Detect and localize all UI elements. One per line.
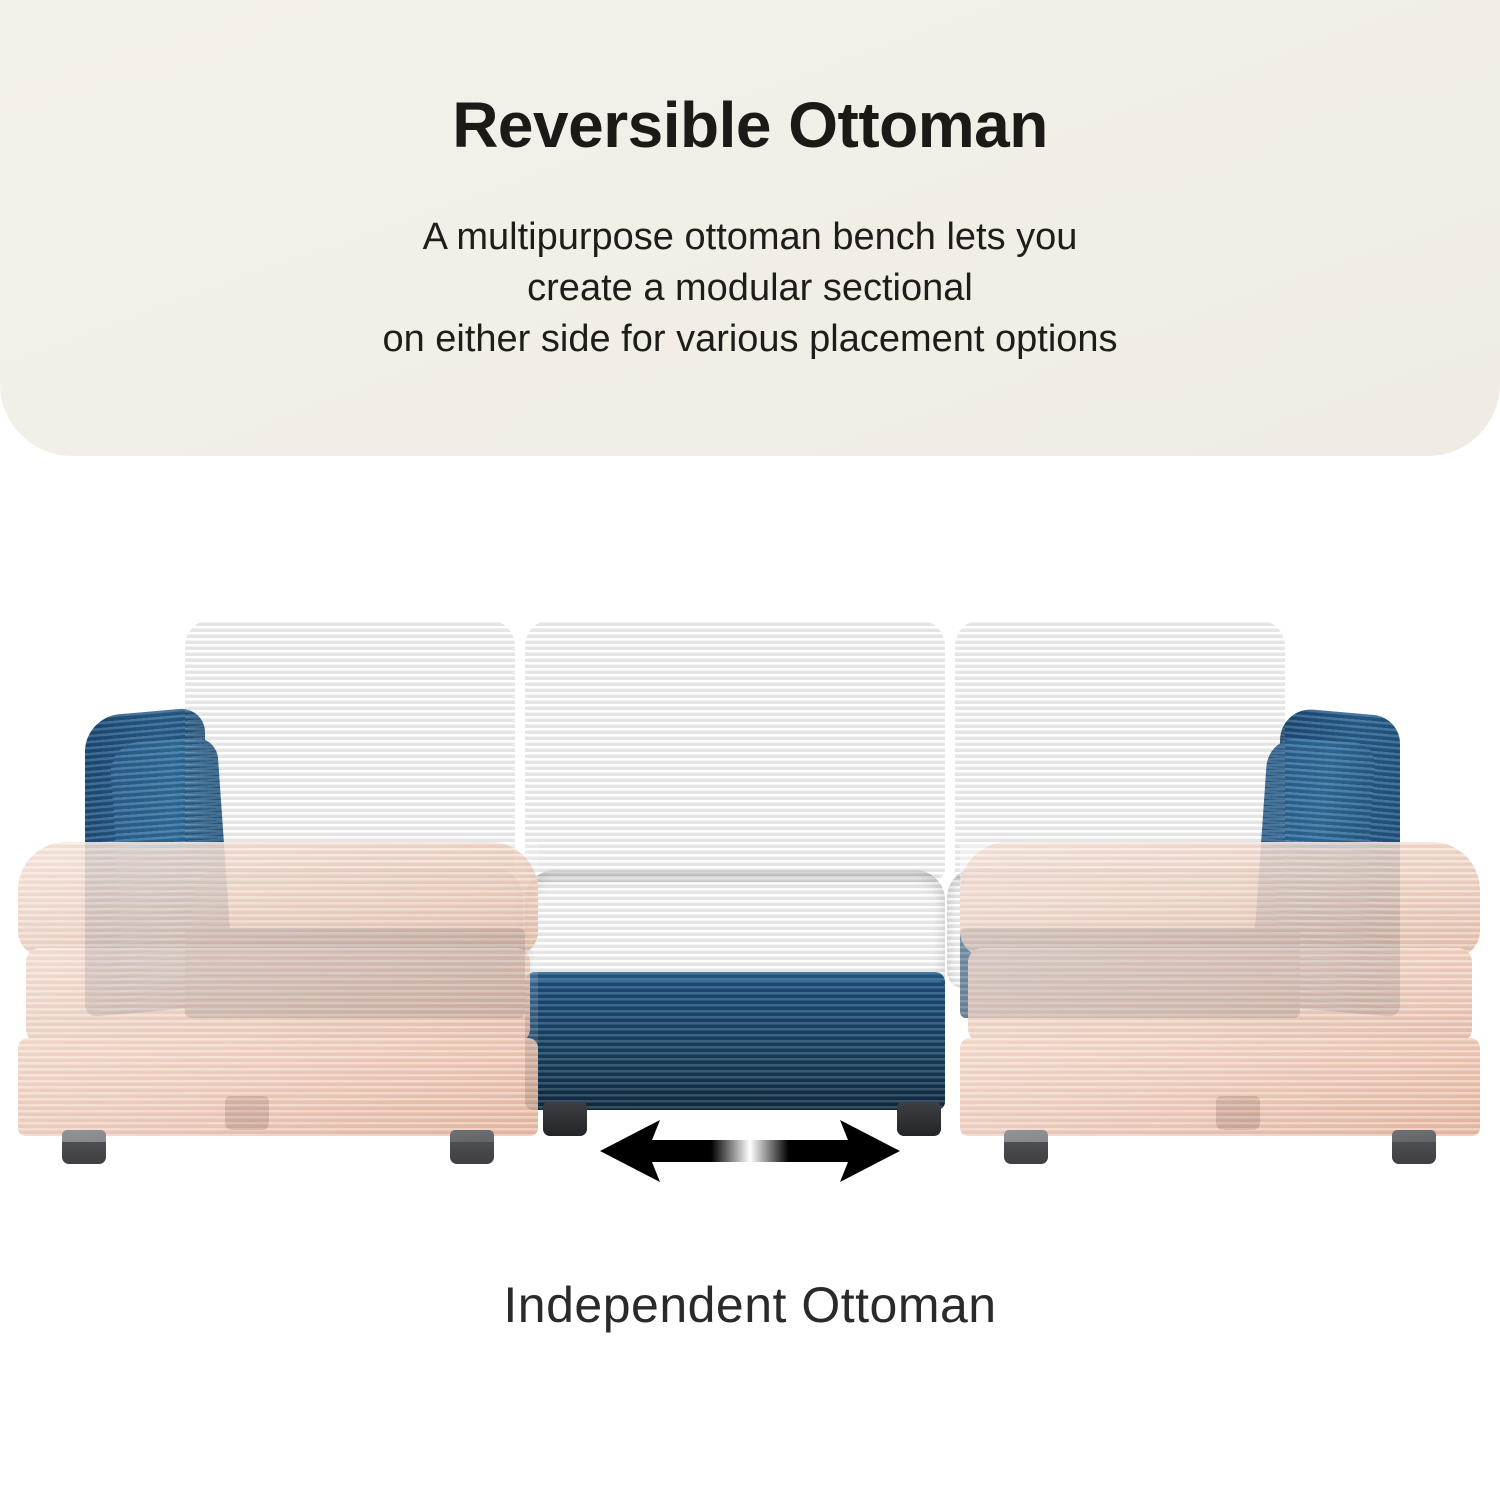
double-arrow-icon [598, 1112, 902, 1190]
page-title: Reversible Ottoman [0, 88, 1500, 162]
subtitle-line-1: A multipurpose ottoman bench lets you [0, 212, 1500, 263]
right-ottoman-base [960, 1038, 1480, 1136]
left-ottoman-base [18, 1038, 538, 1136]
right-ottoman-mid-band [968, 948, 1472, 1043]
center-module-base [525, 980, 945, 1110]
hero-subtitle: A multipurpose ottoman bench lets you cr… [0, 212, 1500, 365]
right-ottoman-top-cushion [960, 842, 1480, 957]
right-reversible-ottoman[interactable] [960, 842, 1480, 1142]
left-ottoman-foot-2 [450, 1130, 494, 1164]
reversible-direction-indicator [598, 1112, 902, 1190]
right-ottoman-foot-1 [1004, 1130, 1048, 1164]
product-caption: Independent Ottoman [0, 1276, 1500, 1334]
right-ottoman-foot-2 [1392, 1130, 1436, 1164]
back-cushion-center [525, 620, 945, 882]
hero-panel: Reversible Ottoman A multipurpose ottoma… [0, 0, 1500, 456]
sofa-foot-2 [897, 1102, 941, 1136]
left-reversible-ottoman[interactable] [18, 842, 538, 1142]
left-ottoman-mid-band [26, 948, 530, 1043]
sofa-foot-1 [543, 1102, 587, 1136]
left-ottoman-foot-1 [62, 1130, 106, 1164]
left-ottoman-top-cushion [18, 842, 538, 957]
subtitle-line-3: on either side for various placement opt… [0, 314, 1500, 365]
subtitle-line-2: create a modular sectional [0, 263, 1500, 314]
